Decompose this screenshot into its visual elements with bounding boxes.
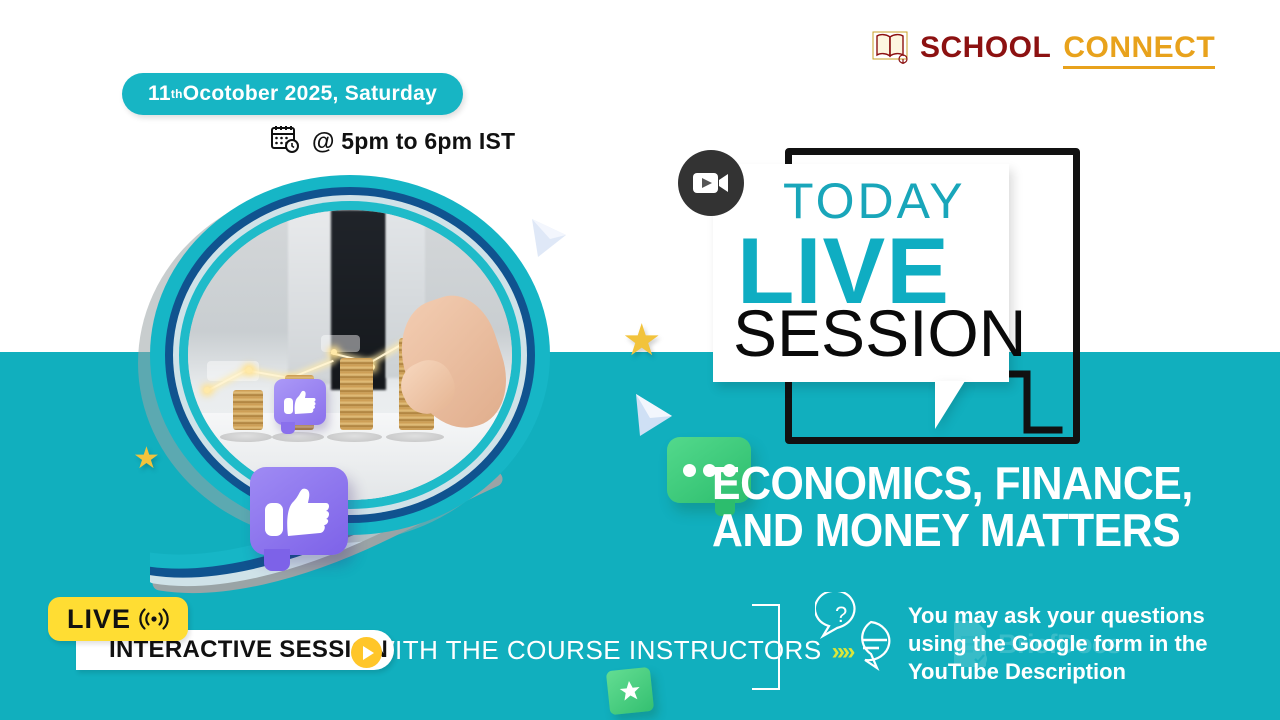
logo-word-connect: CONNECT bbox=[1063, 31, 1215, 69]
session-time-row: @ 5pm to 6pm IST bbox=[270, 124, 515, 159]
coin-stacks-growth-chart-photo bbox=[188, 210, 512, 500]
date-rest: Ocotober 2025, Saturday bbox=[183, 82, 437, 106]
thumbs-up-icon bbox=[274, 379, 326, 425]
brand-logo[interactable]: SCHOOLCONNECT bbox=[872, 30, 1215, 66]
star-icon: ★ bbox=[622, 315, 661, 366]
page-title: ECONOMICS, FINANCE, AND MONEY MATTERS bbox=[712, 460, 1196, 554]
logo-word-school: SCHOOL bbox=[920, 31, 1051, 64]
qa-instruction-text: You may ask your questions using the Goo… bbox=[908, 602, 1248, 686]
promo-line-session: SESSION bbox=[733, 300, 1026, 366]
instructors-caption: WITH THE COURSE INSTRUCTORS»» bbox=[370, 635, 852, 666]
qa-line-3: YouTube Description bbox=[908, 658, 1248, 686]
question-answer-bubbles-icon: ? bbox=[815, 592, 903, 676]
page-title-line-2: AND MONEY MATTERS bbox=[712, 507, 1196, 554]
video-camera-icon[interactable] bbox=[678, 150, 744, 216]
triangle-3d-icon bbox=[630, 390, 676, 438]
page-title-line-1: ECONOMICS, FINANCE, bbox=[712, 460, 1196, 507]
qa-line-2: using the Google form in the bbox=[908, 630, 1248, 658]
play-icon[interactable] bbox=[351, 637, 382, 668]
hero-speech-bubble-photo: ★ ★ bbox=[130, 165, 670, 585]
bracket-divider bbox=[752, 604, 780, 690]
broadcast-waves-icon bbox=[139, 607, 169, 631]
calendar-clock-icon bbox=[270, 124, 300, 159]
live-label: LIVE bbox=[67, 604, 131, 635]
qa-line-1: You may ask your questions bbox=[908, 602, 1248, 630]
star-icon: ★ bbox=[133, 441, 160, 476]
promo-bubble-outline-tail bbox=[1003, 370, 1063, 446]
date-badge: 11th Ocotober 2025, Saturday bbox=[122, 73, 463, 115]
date-ordinal-suffix: th bbox=[171, 87, 183, 101]
session-time-text: @ 5pm to 6pm IST bbox=[312, 128, 515, 155]
poster-canvas: SCHOOLCONNECT 11th Ocotober 2025, Saturd… bbox=[0, 0, 1280, 720]
live-interactive-badge: INTERACTIVE SESSION LIVE bbox=[48, 597, 188, 641]
open-book-icon bbox=[872, 30, 912, 66]
svg-text:?: ? bbox=[835, 602, 847, 627]
live-pill: LIVE bbox=[48, 597, 188, 641]
date-day: 11 bbox=[148, 82, 171, 106]
triangle-3d-icon bbox=[528, 215, 568, 259]
thumbs-up-icon bbox=[250, 467, 348, 555]
star-cube-icon bbox=[606, 667, 654, 715]
promo-bubble-white-tail bbox=[935, 381, 993, 429]
